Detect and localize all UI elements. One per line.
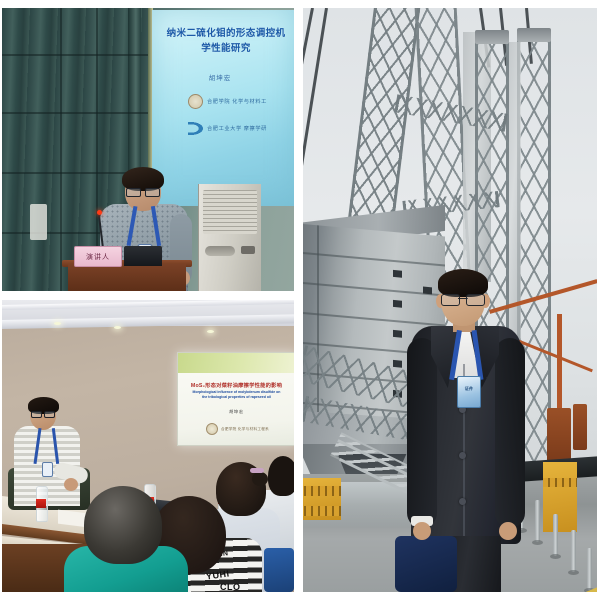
slide-title-line-1: 纳米二硫化钼的形态调控机: [160, 26, 292, 41]
air-conditioner-vent: [203, 190, 257, 234]
organization-2-label: 合肥工业大学 摩擦学研: [207, 125, 267, 132]
mast-cap: [517, 28, 551, 42]
man-bag: [395, 536, 457, 592]
counterweight-seam: [303, 312, 445, 327]
wall-plate: [30, 204, 47, 240]
slide-title: 纳米二硫化钼的形态调控机 学性能研究: [160, 26, 292, 56]
conference-badge-label: 证件: [459, 386, 479, 392]
university-seal-icon: [188, 94, 203, 109]
air-conditioner-badge: [241, 246, 255, 254]
safety-bollard: [587, 548, 592, 590]
man-coat-button: [459, 452, 466, 459]
presenter-glasses-icon: [31, 411, 55, 416]
photo-collage: 纳米二硫化钼的形态调控机 学性能研究 胡坤宏 合肥学院 化学与材料工 合肥工业大…: [0, 0, 600, 600]
man-hand-left: [413, 522, 431, 540]
university-logo-icon: [188, 122, 203, 135]
glasses-bridge: [458, 298, 468, 299]
photo-meeting-room-presentation[interactable]: MoS₂形态对菜籽油摩擦学性能的影响 Morphological influen…: [2, 300, 294, 592]
photo-crane-construction-site-portrait[interactable]: 证件: [303, 8, 597, 592]
podium-sign: 演讲人: [74, 246, 122, 267]
slide-organization-1: 合肥学院 化学与材料工: [188, 94, 267, 109]
safety-bollard: [553, 514, 558, 556]
hook-block: [573, 404, 587, 450]
slide-organization-2: 合肥工业大学 摩擦学研: [188, 122, 267, 135]
presenter-hand: [64, 478, 78, 491]
speaker-glasses-icon: [126, 188, 160, 195]
audience-member-hair: [84, 486, 162, 564]
conference-badge: 证件: [457, 376, 481, 408]
slide-header-band: [178, 353, 294, 373]
presenter-badge: [42, 462, 53, 477]
laptop: [124, 246, 162, 266]
man-hand-right: [499, 522, 517, 540]
meeting-slide-footer: 合肥学院 化学与材料工程系: [206, 423, 269, 435]
slide-title-line-2: 学性能研究: [160, 41, 292, 56]
audience-member-hair: [268, 456, 294, 496]
counterweight-notch: [393, 330, 402, 338]
meeting-projection-screen: MoS₂形态对菜籽油摩擦学性能的影响 Morphological influen…: [177, 352, 294, 446]
counterweight-notch: [393, 270, 402, 278]
ceiling-downlight: [207, 330, 214, 333]
hook-block: [547, 408, 571, 464]
yellow-equipment-teeth: [543, 478, 577, 487]
photo-academic-lecture-presentation[interactable]: 纳米二硫化钼的形态调控机 学性能研究 胡坤宏 合肥学院 化学与材料工 合肥工业大…: [2, 8, 294, 291]
yellow-equipment-block: [543, 462, 577, 532]
yellow-equipment-teeth: [303, 486, 341, 496]
air-conditioner-grille: [205, 246, 235, 256]
yellow-equipment-teeth: [303, 506, 341, 516]
man-arm-right: [495, 338, 525, 528]
meeting-slide-author: 胡坤宏: [182, 409, 291, 415]
projection-screen: 纳米二硫化钼的形态调控机 学性能研究 胡坤宏 合肥学院 化学与材料工 合肥工业大…: [152, 10, 294, 206]
podium-sign-label: 演讲人: [86, 252, 110, 262]
mast-panel-sheet: [509, 42, 521, 342]
wall-panel-line: [2, 112, 154, 114]
man-hair: [438, 269, 488, 297]
audience-chair: [264, 548, 294, 592]
university-seal-icon: [206, 423, 218, 435]
audience-member-hair-bun: [252, 472, 268, 486]
mast-cap: [475, 30, 509, 44]
air-conditioner-unit: [198, 184, 261, 291]
ceiling-downlight: [54, 322, 61, 325]
man-glasses-icon: [441, 294, 485, 304]
safety-bollard: [535, 500, 540, 542]
shirt-word: CLO: [220, 582, 241, 592]
wall-panel-line: [60, 8, 62, 291]
meeting-slide-footer-label: 合肥学院 化学与材料工程系: [221, 427, 269, 432]
meeting-slide-subtitle: Morphological influence of molybdenum di…: [184, 390, 289, 400]
safety-bollard: [571, 530, 576, 572]
man-coat-button: [459, 498, 466, 505]
counterweight-seam: [303, 252, 445, 267]
podium: [68, 264, 186, 291]
man-arm-left: [407, 338, 437, 528]
counterweight-vertical-seam: [317, 225, 319, 425]
wall-panel-line: [2, 54, 154, 56]
meeting-slide-subtitle-line-2: the tribological properties of rapeseed …: [184, 395, 289, 400]
water-bottle: [36, 486, 48, 522]
organization-1-label: 合肥学院 化学与材料工: [207, 98, 267, 105]
counterweight-notch: [423, 287, 432, 295]
slide-author: 胡坤宏: [160, 72, 280, 82]
counterweight-notch: [393, 300, 402, 308]
meeting-slide-title: MoS₂形态对菜籽油摩擦学性能的影响: [182, 381, 291, 389]
hair-tie: [250, 468, 264, 473]
microphone-led-icon: [97, 210, 102, 215]
ceiling-downlight: [114, 326, 121, 329]
